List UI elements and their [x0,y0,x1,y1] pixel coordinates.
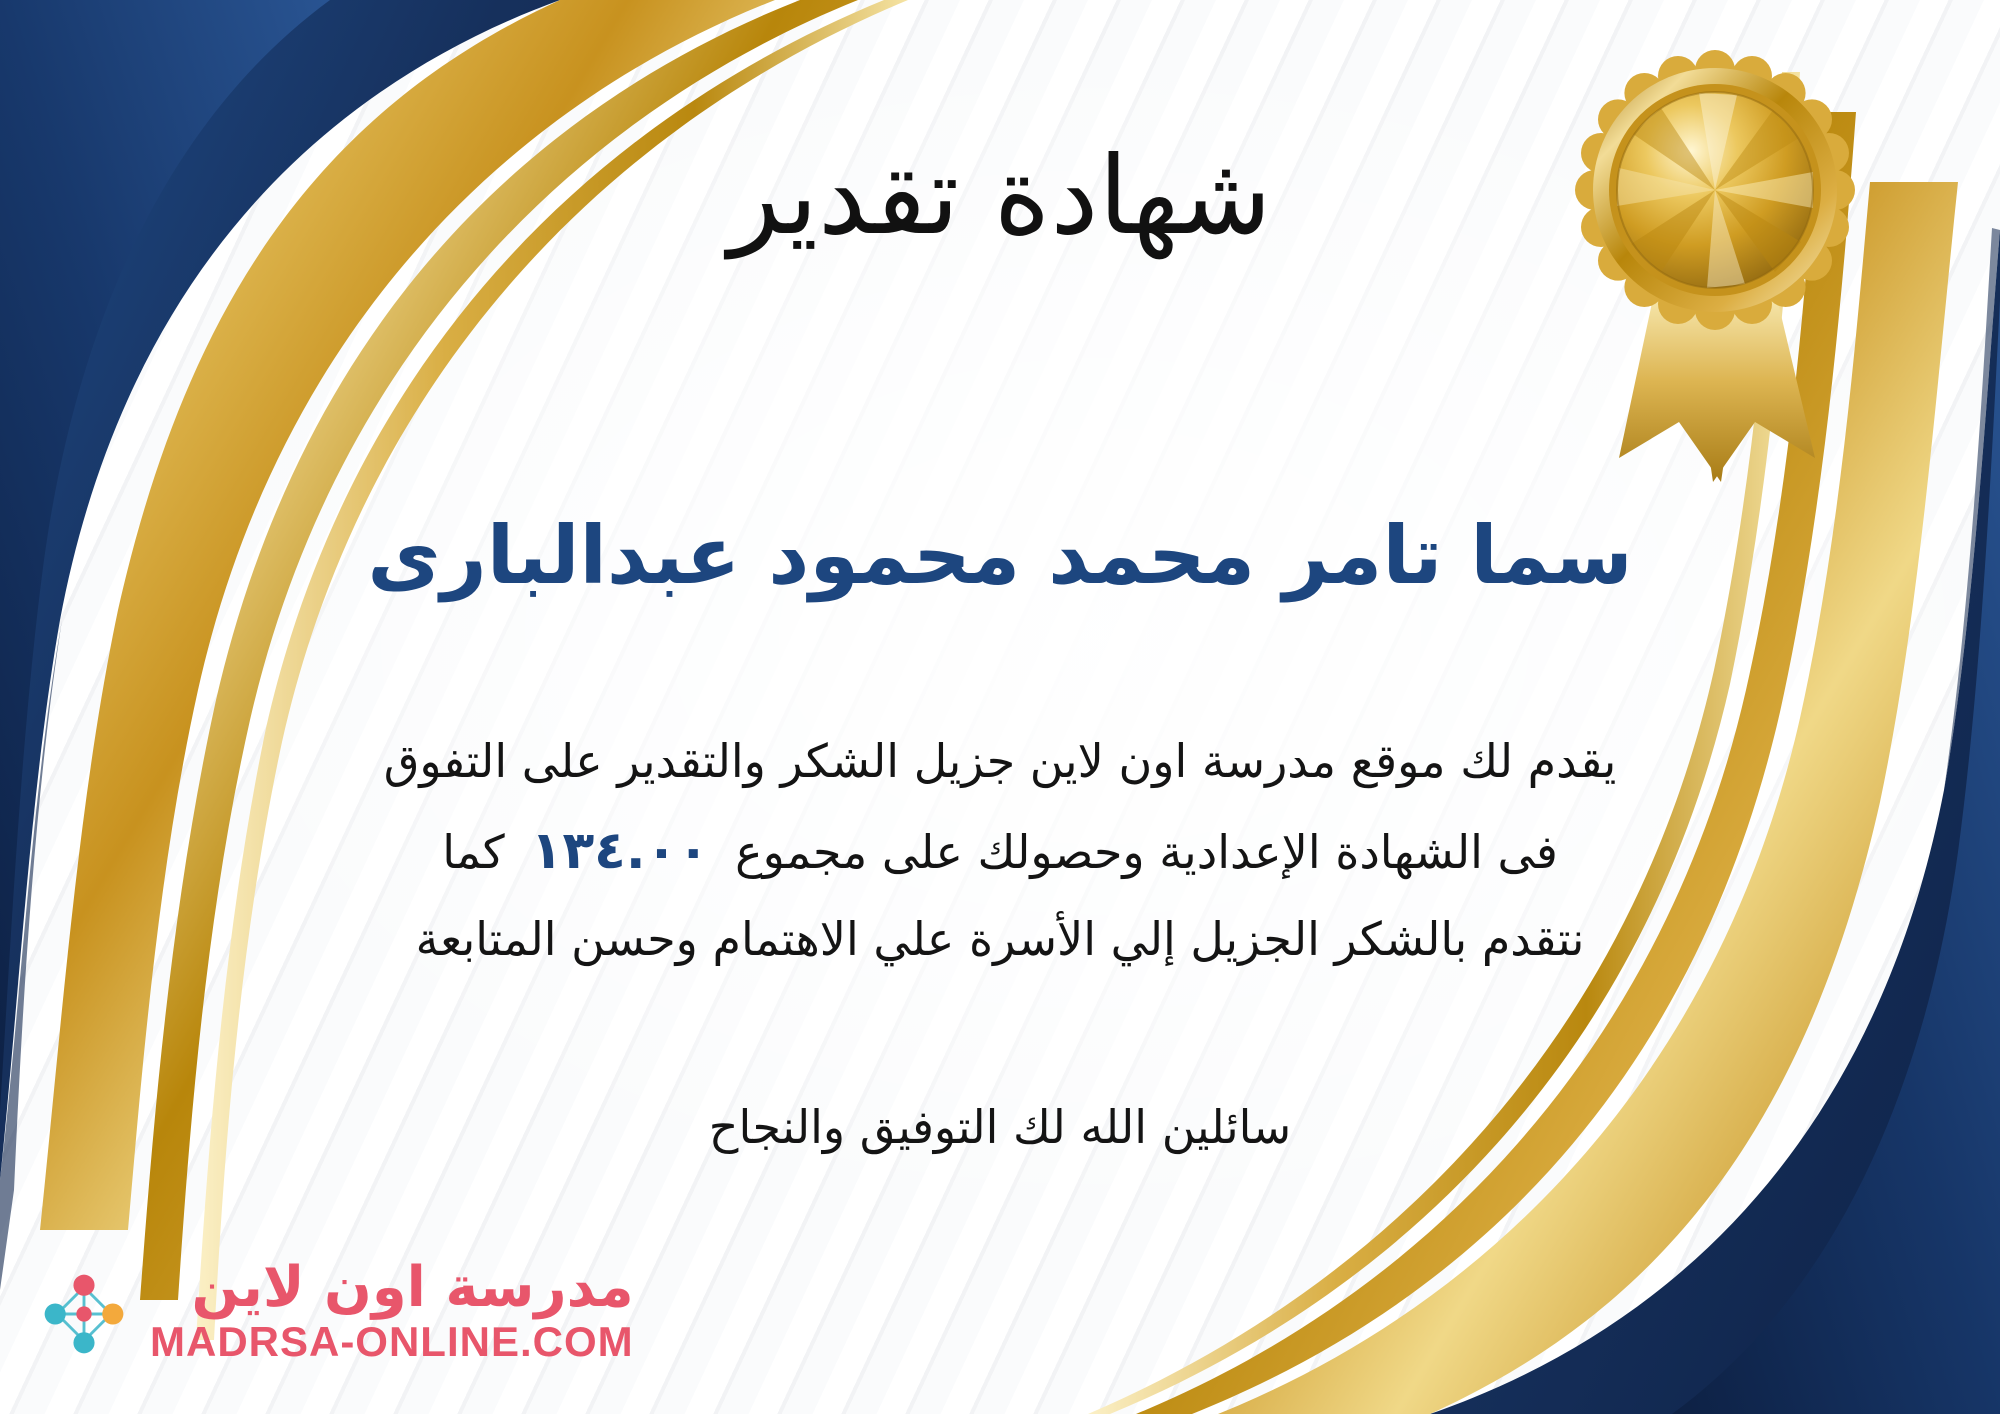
body-line-2-suffix: كما [442,825,505,879]
body-line-1: يقدم لك موقع مدرسة اون لاين جزيل الشكر و… [110,720,1890,804]
logo-website-url: MADRSA-ONLINE.COM [150,1316,634,1369]
certificate-content: شهادة تقدير سما تامر محمد محمود عبدالبار… [0,0,2000,1414]
network-nodes-logo-icon [36,1266,132,1362]
closing-wish: سائلين الله لك التوفيق والنجاح [0,1100,2000,1154]
student-name: سما تامر محمد محمود عبدالبارى [0,510,2000,602]
body-line-2-prefix: فى الشهادة الإعدادية وحصولك على مجموع [735,825,1558,879]
certificate-body: يقدم لك موقع مدرسة اون لاين جزيل الشكر و… [110,720,1890,982]
body-line-2: فى الشهادة الإعدادية وحصولك على مجموع١٣٤… [110,804,1890,899]
logo-arabic-name: مدرسة اون لاين [191,1260,633,1316]
grade-value: ١٣٤.٠٠ [505,821,735,881]
page-title: شهادة تقدير [0,140,2000,253]
logo-text-block: مدرسة اون لاين MADRSA-ONLINE.COM [150,1260,634,1369]
certificate-page: شهادة تقدير سما تامر محمد محمود عبدالبار… [0,0,2000,1414]
body-line-3: نتقدم بالشكر الجزيل إلي الأسرة علي الاهت… [110,898,1890,982]
site-logo[interactable]: مدرسة اون لاين MADRSA-ONLINE.COM [36,1260,634,1369]
